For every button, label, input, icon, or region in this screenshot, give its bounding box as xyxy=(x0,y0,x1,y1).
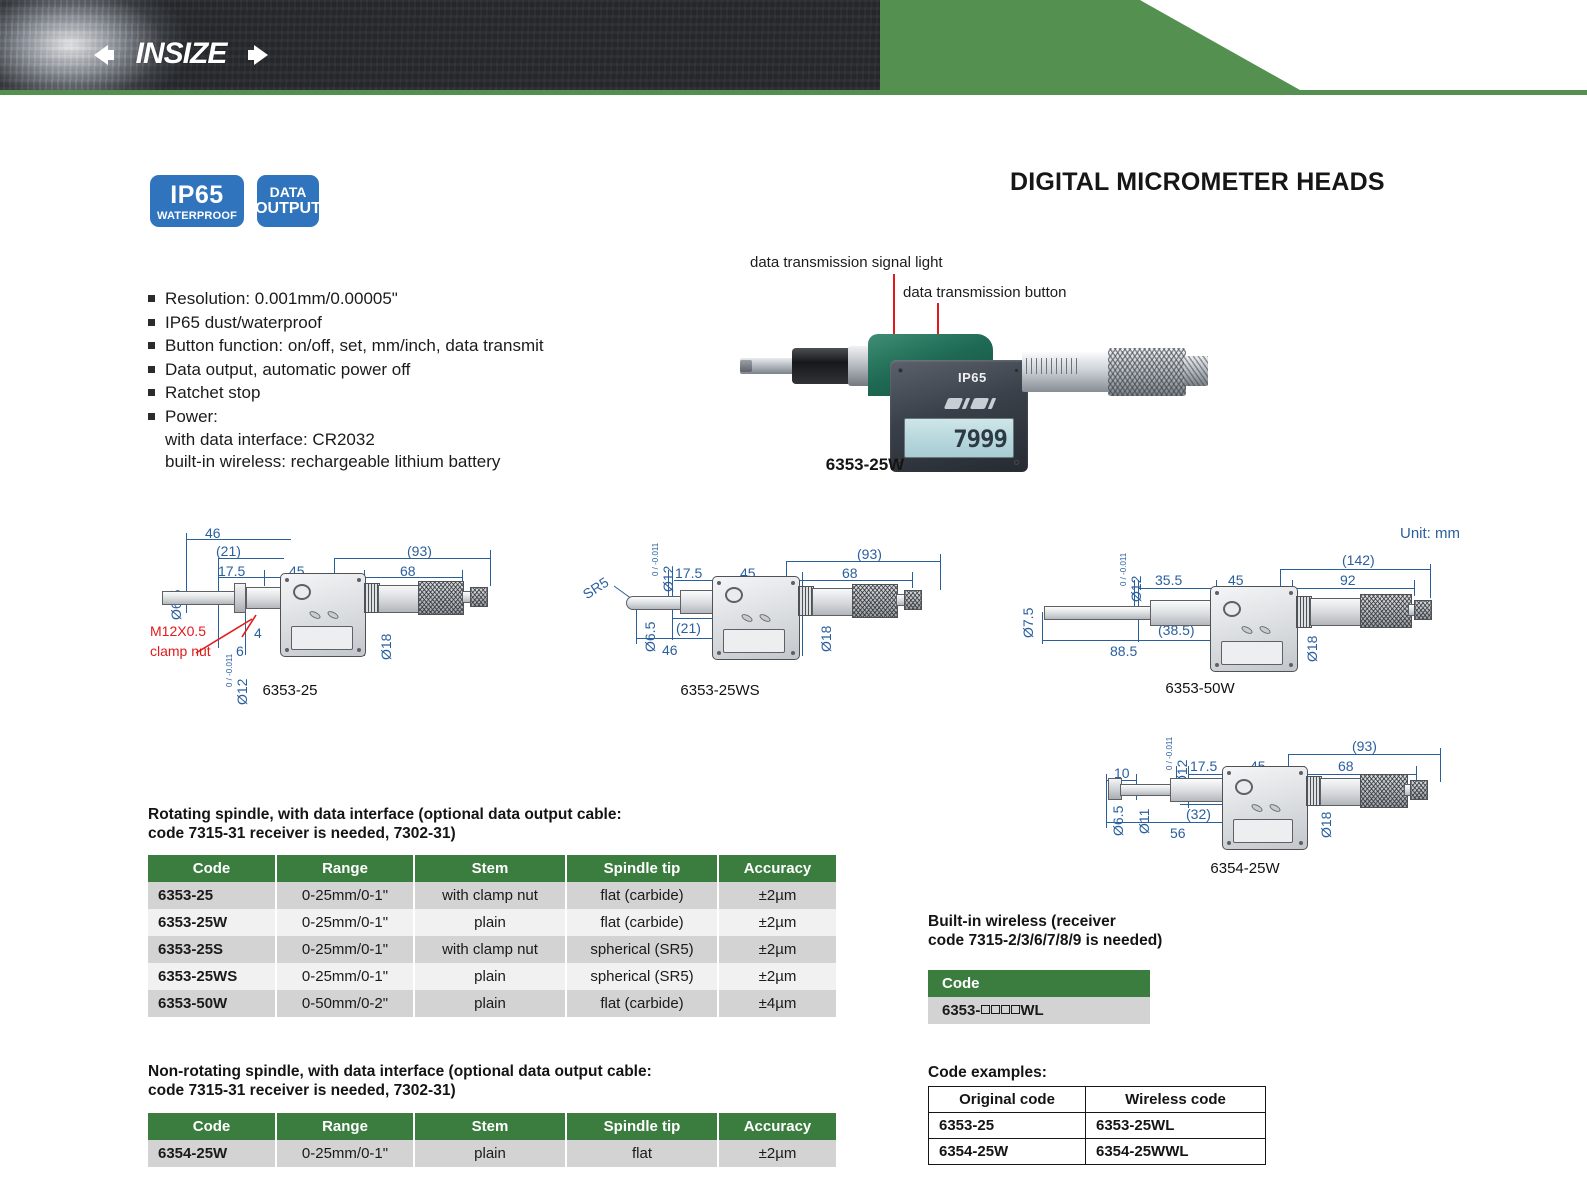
cell-code: 6353-25W xyxy=(148,909,276,936)
screw-icon xyxy=(791,651,795,655)
cell-code: 6353-50W xyxy=(148,990,276,1017)
drawing-caption-6353-25ws: 6353-25WS xyxy=(650,682,790,699)
cell-range: 0-25mm/0-1" xyxy=(276,1140,414,1167)
cell-code: 6353-25S xyxy=(148,936,276,963)
page-title: DIGITAL MICROMETER HEADS xyxy=(1010,168,1490,197)
badge-data-line2: OUTPUT xyxy=(255,201,321,217)
clamp-nut-outline xyxy=(234,583,246,613)
thimble-outline xyxy=(1360,774,1408,808)
ratchet-outline xyxy=(1410,780,1428,800)
cell-stem: plain xyxy=(414,963,566,990)
sleeve-outline xyxy=(1310,598,1362,626)
feature-text: Resolution: 0.001mm/0.00005" xyxy=(165,288,398,310)
table-row: 6353-25W0-25mm/0-1"plainflat (carbide)±2… xyxy=(148,909,836,936)
micrometer-outline xyxy=(150,525,490,705)
col-spindle-tip: Spindle tip xyxy=(566,1113,718,1140)
lcd-display: 7999 xyxy=(904,418,1014,458)
feature-item: Ratchet stop xyxy=(148,382,668,404)
feature-text: IP65 dust/waterproof xyxy=(165,312,322,334)
spindle-outline xyxy=(626,596,684,610)
screw-icon xyxy=(285,578,289,582)
screen-outline xyxy=(723,629,785,653)
thimble-outline xyxy=(852,584,898,618)
eye-detail xyxy=(725,587,743,603)
bullet-icon xyxy=(148,366,155,373)
cell-code: 6353-25WS xyxy=(148,963,276,990)
table-header-row: Original code Wireless code xyxy=(929,1087,1266,1113)
col-spindle-tip: Spindle tip xyxy=(566,855,718,882)
drawing-6353-25: 46 (21) 17.5 45 (93) 68 6 4 Ø6.5 Ø18 Ø12… xyxy=(150,525,490,705)
feature-item: Resolution: 0.001mm/0.00005" xyxy=(148,288,668,310)
rotating-table-title: Rotating spindle, with data interface (o… xyxy=(148,805,808,843)
housing-outline xyxy=(1222,766,1308,850)
col-range: Range xyxy=(276,1113,414,1140)
product-photo: data transmission signal light data tran… xyxy=(715,250,1275,490)
cell-accuracy: ±2µm xyxy=(718,963,836,990)
feature-text: Power: xyxy=(165,406,218,428)
rotating-title-line2: code 7315-31 receiver is needed, 7302-31… xyxy=(148,824,808,843)
feature-text: Data output, automatic power off xyxy=(165,359,410,381)
screw-icon xyxy=(898,368,903,373)
micrometer-outline xyxy=(1010,540,1430,700)
wireless-code-row: 6353-WL xyxy=(928,997,1150,1024)
wireless-code-prefix: 6353- xyxy=(942,1002,980,1019)
drawing-6353-25ws: 17.5 45 (93) 68 (21) 46 Ø6.5 Ø18 Ø12 0 /… xyxy=(580,530,940,700)
drawing-6353-50w: 35.5 45 (142) 92 (38.5) 88.5 Ø7.5 Ø12 Ø1… xyxy=(1010,540,1430,700)
table-row: 6354-25W0-25mm/0-1"plainflat±2µm xyxy=(148,1140,836,1167)
screen-outline xyxy=(291,626,353,650)
table-row: 6353-25S0-25mm/0-1"with clamp nutspheric… xyxy=(148,936,836,963)
cell-range: 0-50mm/0-2" xyxy=(276,990,414,1017)
bullet-icon xyxy=(148,413,155,420)
spindle-outline xyxy=(1120,784,1174,796)
ip65-marking: IP65 xyxy=(958,370,987,385)
nonrotating-title-line2: code 7315-31 receiver is needed, 7302-31… xyxy=(148,1081,828,1100)
screw-icon xyxy=(1014,368,1019,373)
cell-original-code: 6353-25 xyxy=(929,1113,1086,1139)
badge-data-line1: DATA xyxy=(270,185,307,199)
nonrotating-table-title: Non-rotating spindle, with data interfac… xyxy=(148,1062,828,1100)
page-header: INSIZE xyxy=(0,0,1587,90)
cell-original-code: 6354-25W xyxy=(929,1139,1086,1165)
screw-icon xyxy=(1227,841,1231,845)
screw-icon xyxy=(791,581,795,585)
col-stem: Stem xyxy=(414,855,566,882)
cell-accuracy: ±2µm xyxy=(718,936,836,963)
col-range: Range xyxy=(276,855,414,882)
screw-icon xyxy=(1215,663,1219,667)
stem-outline xyxy=(1150,600,1216,626)
placeholder-box-icon xyxy=(991,1005,1000,1014)
cell-range: 0-25mm/0-1" xyxy=(276,909,414,936)
cell-stem: plain xyxy=(414,1140,566,1167)
table-row: 6353-256353-25WL xyxy=(929,1113,1266,1139)
wireless-title: Built-in wireless (receiver code 7315-2/… xyxy=(928,912,1268,950)
drawing-caption-6353-50w: 6353-50W xyxy=(1130,680,1270,697)
cell-stem: with clamp nut xyxy=(414,882,566,909)
cell-tip: flat (carbide) xyxy=(566,882,718,909)
insize-logo: INSIZE xyxy=(96,34,266,74)
bullet-icon xyxy=(148,319,155,326)
col-original-code: Original code xyxy=(929,1087,1086,1113)
cell-code: 6354-25W xyxy=(148,1140,276,1167)
cell-tip: flat xyxy=(566,1140,718,1167)
button-detail xyxy=(1258,625,1271,636)
table-row: 6354-25W6354-25WWL xyxy=(929,1139,1266,1165)
housing-outline xyxy=(280,573,366,657)
code-examples-title: Code examples: xyxy=(928,1063,1047,1082)
sleeve-graduations xyxy=(1026,358,1078,374)
ext-line xyxy=(1440,748,1441,782)
thimble xyxy=(1108,348,1186,396)
cell-accuracy: ±2µm xyxy=(718,909,836,936)
col-stem: Stem xyxy=(414,1113,566,1140)
cell-stem: plain xyxy=(414,990,566,1017)
badge-ip65-line2: WATERPROOF xyxy=(157,211,237,222)
screw-icon xyxy=(1215,591,1219,595)
col-wireless-code: Wireless code xyxy=(1086,1087,1266,1113)
table-row: 6353-50W0-50mm/0-2"plainflat (carbide)±4… xyxy=(148,990,836,1017)
cell-accuracy: ±2µm xyxy=(718,882,836,909)
button-detail xyxy=(1250,803,1263,814)
placeholder-box-icon xyxy=(1011,1005,1020,1014)
wireless-col-code: Code xyxy=(928,970,1150,997)
cell-stem: with clamp nut xyxy=(414,936,566,963)
data-transmission-button[interactable] xyxy=(970,398,989,409)
cell-range: 0-25mm/0-1" xyxy=(276,936,414,963)
feature-item: Power: xyxy=(148,406,668,428)
button-detail xyxy=(326,610,339,621)
stem-outline xyxy=(1170,778,1228,802)
drawing-6354-25w: 10 17.5 45 (93) 68 (32) 56 Ø6.5 Ø11 Ø12 … xyxy=(1090,718,1440,868)
screw-icon xyxy=(357,648,361,652)
data-button-accent xyxy=(988,398,996,409)
badge-ip65-line1: IP65 xyxy=(170,183,223,208)
sleeve-outline xyxy=(812,588,854,616)
wireless-title-line2: code 7315-2/3/6/7/8/9 is needed) xyxy=(928,931,1268,950)
screw-icon xyxy=(285,648,289,652)
ext-line xyxy=(490,550,491,586)
screw-icon xyxy=(1289,591,1293,595)
button-detail xyxy=(740,613,753,624)
wireless-code-table: Code 6353-WL xyxy=(928,970,1150,1024)
set-button[interactable] xyxy=(944,398,963,409)
cell-tip: spherical (SR5) xyxy=(566,963,718,990)
feature-text: Button function: on/off, set, mm/inch, d… xyxy=(165,335,544,357)
spindle-tip xyxy=(740,360,752,372)
placeholder-box-icon xyxy=(981,1005,990,1014)
table-header-row: Code Range Stem Spindle tip Accuracy xyxy=(148,855,836,882)
cell-tip: spherical (SR5) xyxy=(566,936,718,963)
badge-data-output: DATA OUTPUT xyxy=(257,175,319,227)
screw-icon xyxy=(1289,663,1293,667)
ratchet-outline xyxy=(904,590,922,610)
spindle-outline xyxy=(1044,606,1154,620)
thimble-outline xyxy=(418,581,464,615)
feature-list: Resolution: 0.001mm/0.00005" IP65 dust/w… xyxy=(148,288,668,472)
placeholder-box-icon xyxy=(1001,1005,1010,1014)
col-accuracy: Accuracy xyxy=(718,1113,836,1140)
wireless-title-line1: Built-in wireless (receiver xyxy=(928,912,1268,931)
feature-item: Button function: on/off, set, mm/inch, d… xyxy=(148,335,668,357)
cell-tip: flat (carbide) xyxy=(566,990,718,1017)
feature-item: Data output, automatic power off xyxy=(148,359,668,381)
eye-detail xyxy=(293,584,311,600)
button-detail xyxy=(1268,803,1281,814)
screw-icon xyxy=(1299,771,1303,775)
feature-subline: built-in wireless: rechargeable lithium … xyxy=(165,451,668,473)
micrometer-outline xyxy=(1090,718,1440,868)
ratchet-stop xyxy=(1184,356,1208,386)
nonrotating-title-line1: Non-rotating spindle, with data interfac… xyxy=(148,1062,828,1081)
screw-icon xyxy=(357,578,361,582)
table-row: 6353-250-25mm/0-1"with clamp nutflat (ca… xyxy=(148,882,836,909)
feature-text: Ratchet stop xyxy=(165,382,260,404)
ratchet-outline xyxy=(470,587,488,607)
screen-outline xyxy=(1233,819,1293,843)
table-header-row: Code Range Stem Spindle tip Accuracy xyxy=(148,1113,836,1140)
screw-icon xyxy=(717,581,721,585)
cell-accuracy: ±4µm xyxy=(718,990,836,1017)
ratchet-outline xyxy=(1414,600,1432,620)
button-detail xyxy=(308,610,321,621)
cell-accuracy: ±2µm xyxy=(718,1140,836,1167)
housing-outline xyxy=(1210,586,1298,672)
rotating-spindle-table: Code Range Stem Spindle tip Accuracy 635… xyxy=(148,855,836,1017)
feature-subline: with data interface: CR2032 xyxy=(165,429,668,451)
callout-signal-light-label: data transmission signal light xyxy=(750,254,943,271)
sleeve-outline xyxy=(1320,778,1362,806)
logo-left-bar xyxy=(104,50,114,60)
bullet-icon xyxy=(148,389,155,396)
code-examples-table: Original code Wireless code 6353-256353-… xyxy=(928,1086,1266,1165)
header-green-rule xyxy=(0,90,1587,95)
callout-button-label: data transmission button xyxy=(903,284,1066,301)
spindle-outline xyxy=(162,591,240,605)
thimble-outline xyxy=(1360,594,1412,628)
set-button-accent xyxy=(962,398,970,409)
logo-wordmark: INSIZE xyxy=(136,37,227,71)
bullet-icon xyxy=(148,295,155,302)
button-detail xyxy=(758,613,771,624)
screw-icon xyxy=(717,651,721,655)
drawing-caption-6353-25: 6353-25 xyxy=(230,682,350,699)
cell-tip: flat (carbide) xyxy=(566,909,718,936)
cell-wireless-code: 6353-25WL xyxy=(1086,1113,1266,1139)
drawing-caption-6354-25w: 6354-25W xyxy=(1175,860,1315,877)
ext-line xyxy=(1430,564,1431,598)
cell-code: 6353-25 xyxy=(148,882,276,909)
button-detail xyxy=(1240,625,1253,636)
feature-item: IP65 dust/waterproof xyxy=(148,312,668,334)
eye-detail xyxy=(1223,601,1241,617)
lcd-value: 7999 xyxy=(953,425,1007,453)
badge-group: IP65 WATERPROOF DATA OUTPUT xyxy=(150,175,319,227)
table-row: 6353-25WS0-25mm/0-1"plainspherical (SR5)… xyxy=(148,963,836,990)
cell-wireless-code: 6354-25WWL xyxy=(1086,1139,1266,1165)
badge-ip65-waterproof: IP65 WATERPROOF xyxy=(150,175,244,227)
product-photo-caption: 6353-25W xyxy=(715,455,1015,475)
cell-range: 0-25mm/0-1" xyxy=(276,882,414,909)
black-sleeve xyxy=(792,348,852,384)
cell-stem: plain xyxy=(414,909,566,936)
col-accuracy: Accuracy xyxy=(718,855,836,882)
ext-line xyxy=(940,554,941,590)
screw-icon xyxy=(1227,771,1231,775)
nonrotating-spindle-table: Code Range Stem Spindle tip Accuracy 635… xyxy=(148,1113,836,1167)
housing-outline xyxy=(712,576,800,660)
logo-right-arrow-icon xyxy=(254,45,268,65)
cell-range: 0-25mm/0-1" xyxy=(276,963,414,990)
sleeve-outline xyxy=(378,585,420,613)
micrometer-outline xyxy=(580,530,940,700)
eye-detail xyxy=(1235,779,1253,795)
wireless-code-suffix: WL xyxy=(1020,1002,1043,1019)
screw-icon xyxy=(1299,841,1303,845)
micrometer-head-illustration: IP65 7999 xyxy=(740,318,1210,433)
col-code: Code xyxy=(148,855,276,882)
screen-outline xyxy=(1221,641,1283,665)
rotating-title-line1: Rotating spindle, with data interface (o… xyxy=(148,805,808,824)
bullet-icon xyxy=(148,342,155,349)
col-code: Code xyxy=(148,1113,276,1140)
